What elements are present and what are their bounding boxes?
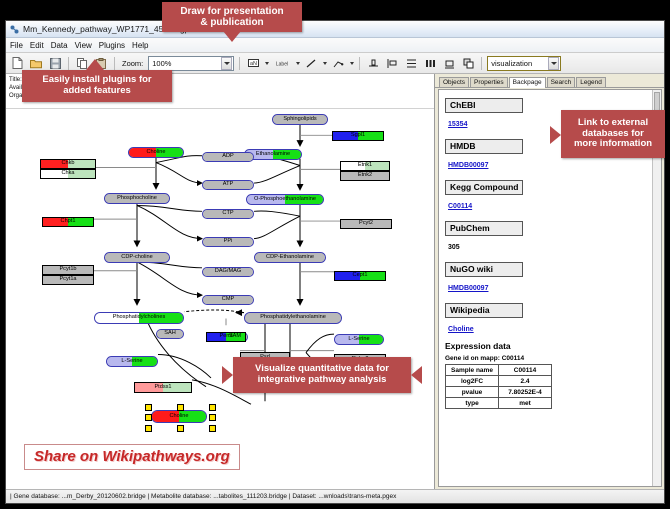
gene-node-pcyt1b[interactable]: Pcyt1b — [42, 265, 94, 275]
datanode-chevron-icon[interactable] — [265, 62, 269, 65]
metabolite-node-dag-mag[interactable]: DAG/MAG — [202, 267, 254, 277]
gene-node-chkb[interactable]: Chkb — [40, 159, 96, 169]
node-label: DAG/MAG — [215, 269, 241, 275]
metabolite-node-l-serine-right[interactable]: L-Serine — [334, 334, 384, 345]
node-label: Etnk2 — [358, 173, 372, 179]
toolbar-separator-5 — [481, 57, 482, 70]
expr-val-pvalue: 7.80252E-4 — [499, 387, 552, 398]
menu-item-help[interactable]: Help — [132, 41, 148, 50]
node-label: Cept1 — [353, 273, 368, 279]
db-link-hmdb[interactable]: HMDB00097 — [448, 162, 488, 169]
menu-item-view[interactable]: View — [75, 41, 92, 50]
menu-item-edit[interactable]: Edit — [30, 41, 44, 50]
db-name-pubchem: PubChem — [445, 221, 523, 236]
status-bar-text: | Gene database: ...m_Derby_20120602.bri… — [10, 493, 396, 500]
save-disk-icon[interactable] — [47, 55, 63, 71]
metabolite-node-choline-top[interactable]: Choline — [128, 147, 184, 158]
callout-visualize-line2: integrative pathway analysis — [258, 375, 387, 386]
node-label: Phosphatidylcholines — [113, 315, 166, 321]
menu-item-plugins[interactable]: Plugins — [99, 41, 125, 50]
interaction-icon[interactable] — [330, 55, 346, 71]
metabolite-node-ctp[interactable]: CTP — [202, 209, 254, 219]
table-row: pvalue 7.80252E-4 — [446, 387, 552, 398]
menu-item-file[interactable]: File — [10, 41, 23, 50]
node-label: Sphingolipids — [283, 117, 316, 123]
metabolite-node-atp[interactable]: ATP — [202, 180, 254, 190]
distribute-icon[interactable] — [422, 55, 438, 71]
callout-link-line1: Link to external — [578, 118, 648, 129]
db-name-wikipedia: Wikipedia — [445, 303, 523, 318]
node-label: Choline — [147, 150, 166, 156]
node-label: Ptdss1 — [154, 385, 171, 391]
tab-legend[interactable]: Legend — [576, 77, 606, 87]
callout-link: Link to external databases for more info… — [561, 110, 665, 158]
node-label: Choline — [170, 414, 189, 420]
callout-visualize: Visualize quantitative data for integrat… — [233, 357, 411, 393]
callout-draw-line1: Draw for presentation — [180, 6, 283, 18]
visualization-value: visualization — [491, 59, 532, 68]
line-chevron-icon[interactable] — [323, 62, 327, 65]
gene-node-ptdss1[interactable]: Ptdss1 — [134, 382, 192, 393]
metabolite-node-phosphocholine[interactable]: Phosphocholine — [104, 193, 170, 204]
metabolite-node-phosphatidylcholines[interactable]: Phosphatidylcholines — [94, 312, 184, 324]
gene-node-chpt1[interactable]: Chpt1 — [42, 217, 94, 227]
node-label: ATP — [223, 182, 233, 188]
expr-key-pvalue: pvalue — [446, 387, 499, 398]
callout-plugins: Easily install plugins for added feature… — [22, 70, 172, 102]
node-label: Ethanolamine — [256, 152, 290, 158]
zoom-label: Zoom: — [122, 59, 143, 68]
menu-bar: File Edit Data View Plugins Help — [6, 38, 664, 53]
node-label: CDP-choline — [121, 255, 152, 261]
node-label: CMP — [222, 297, 234, 303]
node-label: Pemt — [219, 334, 232, 340]
node-label: Chka — [61, 171, 74, 177]
expr-key-type: type — [446, 398, 499, 409]
zoom-value: 100% — [152, 59, 171, 68]
tab-objects[interactable]: Objects — [439, 77, 469, 87]
label-chevron-icon[interactable] — [296, 62, 300, 65]
toolbar-separator-2 — [114, 57, 115, 70]
callout-draw-pointer-icon — [223, 31, 241, 42]
chevron-down-icon[interactable] — [221, 57, 232, 70]
node-label: Pcyt1a — [59, 277, 76, 283]
node-label: Pcyt2 — [359, 221, 373, 227]
callout-link-line3: more information — [574, 139, 652, 150]
db-entry-wikipedia: Wikipedia Choline — [445, 300, 655, 336]
node-label: CDP-Ethanolamine — [266, 255, 314, 261]
callout-plugins-pointer-icon — [86, 59, 104, 70]
metabolite-node-l-serine-left[interactable]: L-Serine — [106, 356, 158, 367]
gene-node-cept1[interactable]: Cept1 — [334, 271, 386, 281]
gene-node-etnk1[interactable]: Etnk1 — [340, 161, 390, 171]
tab-properties[interactable]: Properties — [470, 77, 508, 87]
metabolite-node-phosphatidylethanolamine[interactable]: Phosphatidylethanolamine — [244, 312, 342, 324]
toolbar-separator-4 — [359, 57, 360, 70]
pathway-editor-pane: Title: Availa Organ — [6, 74, 435, 489]
share-banner-text: Share on Wikipathways.org — [34, 448, 230, 465]
db-name-chebi: ChEBI — [445, 98, 523, 113]
node-label: PPi — [224, 239, 233, 245]
node-label: L-Serine — [348, 337, 369, 343]
share-banner: Share on Wikipathways.org — [24, 444, 240, 470]
node-label: Chkb — [61, 161, 74, 167]
resize-handle-3[interactable] — [145, 414, 152, 421]
side-panel-tabs: Objects Properties Backpage Search Legen… — [435, 74, 664, 88]
node-label: SAH — [164, 331, 176, 337]
table-row: log2FC 2.4 — [446, 376, 552, 387]
label-icon[interactable]: Label — [272, 55, 292, 71]
resize-handle-5[interactable] — [145, 425, 152, 432]
resize-handle-4[interactable] — [209, 414, 216, 421]
callout-visualize-pointer-right-icon — [411, 366, 422, 384]
db-entry-kegg: Kegg Compound C00114 — [445, 177, 655, 213]
db-value-pubchem: 305 — [448, 244, 460, 251]
node-label: L-Serine — [121, 359, 142, 365]
toolbar-separator-3 — [239, 57, 240, 70]
gene-node-sgpl1[interactable]: Sgpl1 — [332, 131, 384, 141]
node-label: Chpt1 — [61, 219, 76, 225]
gene-node-pcyt2[interactable]: Pcyt2 — [340, 219, 392, 229]
bring-front-icon[interactable] — [460, 55, 476, 71]
svg-text:Label: Label — [276, 62, 288, 68]
expr-val-type: met — [499, 398, 552, 409]
expression-data-heading: Expression data — [445, 341, 655, 351]
metabolite-node-ppi[interactable]: PPi — [202, 237, 254, 247]
db-entry-pubchem: PubChem 305 — [445, 218, 655, 254]
table-row: type met — [446, 398, 552, 409]
callout-plugins-line2: added features — [63, 86, 131, 97]
db-link-nugo[interactable]: HMDB00097 — [448, 285, 488, 292]
gene-node-etnk2[interactable]: Etnk2 — [340, 171, 390, 181]
metabolite-node-sah[interactable]: SAH — [156, 329, 184, 339]
expression-table: Sample name C00114 log2FC 2.4 pvalue 7.8… — [445, 364, 552, 409]
node-label: Pcyt1b — [59, 267, 76, 273]
node-label: Etnk1 — [358, 163, 372, 169]
resize-handle-7[interactable] — [209, 425, 216, 432]
table-row: Sample name C00114 — [446, 365, 552, 376]
metabolite-node-cmp[interactable]: CMP — [202, 295, 254, 305]
node-label: CTP — [222, 211, 233, 217]
common-width-icon[interactable] — [441, 55, 457, 71]
node-label: ADP — [222, 154, 234, 160]
visualization-chevron-icon[interactable] — [548, 57, 559, 70]
gene-node-pcyt1a[interactable]: Pcyt1a — [42, 275, 94, 285]
pathvisio-icon — [10, 25, 19, 34]
node-label: Sgpl1 — [351, 133, 365, 139]
db-name-kegg: Kegg Compound — [445, 180, 523, 195]
toolbar-separator-1 — [68, 57, 69, 70]
status-bar: | Gene database: ...m_Derby_20120602.bri… — [6, 489, 664, 503]
expr-val-log2fc: 2.4 — [499, 376, 552, 387]
menu-item-data[interactable]: Data — [51, 41, 68, 50]
db-name-nugo: NuGO wiki — [445, 262, 523, 277]
expr-key-log2fc: log2FC — [446, 376, 499, 387]
metabolite-node-o-phosphoethanolamine[interactable]: O-Phosphoethanolamine — [246, 194, 324, 205]
node-label: O-Phosphoethanolamine — [254, 197, 316, 203]
node-label: Phosphocholine — [117, 196, 157, 202]
node-label: Phosphatidylethanolamine — [260, 315, 326, 321]
interaction-chevron-icon[interactable] — [350, 62, 354, 65]
align-top-icon[interactable] — [365, 55, 381, 71]
svg-text:aN: aN — [250, 61, 257, 67]
metabolite-node-cdp-ethanolamine[interactable]: CDP-Ethanolamine — [254, 252, 326, 263]
align-left-icon[interactable] — [384, 55, 400, 71]
resize-handle-6[interactable] — [177, 425, 184, 432]
callout-draw: Draw for presentation & publication — [162, 2, 302, 32]
db-link-kegg[interactable]: C00114 — [448, 203, 472, 210]
callout-draw-line2: & publication — [200, 17, 263, 29]
metabolite-node-cdp-choline[interactable]: CDP-choline — [104, 252, 170, 263]
callout-link-pointer-icon — [550, 126, 561, 144]
metabolite-node-sphingolipids[interactable]: Sphingolipids — [272, 114, 328, 125]
title-bar: Mm_Kennedy_pathway_WP1771_45176.gpml — [6, 21, 664, 38]
db-link-chebi[interactable]: 15354 — [448, 121, 467, 128]
resize-handle-0[interactable] — [145, 404, 152, 411]
db-entry-nugo: NuGO wiki HMDB00097 — [445, 259, 655, 295]
visualization-combobox[interactable]: visualization — [487, 56, 561, 71]
pathway-canvas[interactable]: CholineSphingolipidsEthanolamineADPATPPh… — [6, 109, 434, 489]
tab-search[interactable]: Search — [547, 77, 576, 87]
stack-icon[interactable] — [403, 55, 419, 71]
expr-key-sample-name: Sample name — [446, 365, 499, 376]
zoom-combobox[interactable]: 100% — [148, 56, 234, 71]
resize-handle-1[interactable] — [177, 404, 184, 411]
open-folder-icon[interactable] — [28, 55, 44, 71]
db-name-hmdb: HMDB — [445, 139, 523, 154]
line-icon[interactable] — [303, 55, 319, 71]
gene-node-chka[interactable]: Chka — [40, 169, 96, 179]
expr-val-sample-name: C00114 — [499, 365, 552, 376]
tab-backpage[interactable]: Backpage — [509, 77, 546, 88]
callout-visualize-pointer-left-icon — [222, 366, 233, 384]
gene-id-label: Gene id on mapp: C00114 — [445, 355, 655, 362]
datanode-icon[interactable]: aN — [245, 55, 261, 71]
metabolite-node-adp[interactable]: ADP — [202, 152, 254, 162]
db-link-wikipedia[interactable]: Choline — [448, 326, 474, 333]
resize-handle-2[interactable] — [209, 404, 216, 411]
new-document-icon[interactable] — [9, 55, 25, 71]
